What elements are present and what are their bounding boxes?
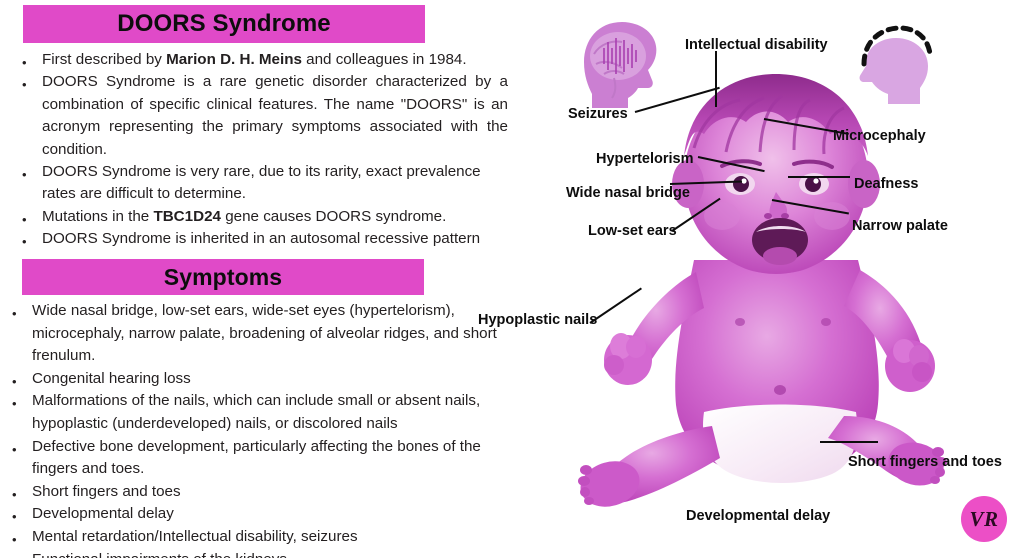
leader-line-deafness (788, 176, 850, 178)
list-item: Mutations in the TBC1D24 gene causes DOO… (20, 206, 508, 228)
infographic-slide: DOORS Syndrome First described by Marion… (0, 0, 1024, 558)
page-title: DOORS Syndrome (117, 10, 330, 38)
list-item: Short fingers and toes (8, 481, 508, 504)
brain-eeg-head-icon (578, 18, 670, 115)
left-text-column: DOORS Syndrome First described by Marion… (0, 0, 520, 558)
list-item: Congenital hearing loss (8, 368, 508, 391)
label-hypertelorism: Hypertelorism (596, 152, 694, 167)
label-microcephaly: Microcephaly (833, 129, 926, 144)
label-intellectual-disability: Intellectual disability (685, 38, 828, 53)
symptoms-title: Symptoms (164, 264, 282, 291)
label-narrow-palate: Narrow palate (852, 219, 948, 234)
label-low-set-ears: Low-set ears (588, 224, 677, 239)
diagram-column: Intellectual disability Seizures Microce… (520, 0, 1024, 558)
list-item: DOORS Syndrome is very rare, due to its … (20, 161, 508, 206)
leader-line-intellectual-disability (715, 51, 717, 107)
label-developmental-delay: Developmental delay (686, 509, 830, 524)
list-item: Mental retardation/Intellectual disabili… (8, 526, 508, 549)
list-item: Defective bone development, particularly… (8, 436, 508, 481)
microcephaly-head-icon (850, 20, 940, 121)
symptoms-bullet-list: Wide nasal bridge, low-set ears, wide-se… (8, 300, 508, 558)
leader-line-short-fingers-and-toes (820, 441, 878, 443)
symptoms-title-bar: Symptoms (22, 259, 424, 295)
list-item: DOORS Syndrome is a rare genetic disorde… (20, 71, 508, 161)
list-item: Wide nasal bridge, low-set ears, wide-se… (8, 300, 508, 368)
label-wide-nasal-bridge: Wide nasal bridge (566, 186, 690, 201)
vr-logo-text: VR (969, 507, 998, 532)
label-deafness: Deafness (854, 177, 918, 192)
list-item: DOORS Syndrome is inherited in an autoso… (20, 228, 508, 250)
label-short-fingers-and-toes: Short fingers and toes (848, 455, 1002, 470)
overview-bullet-list: First described by Marion D. H. Meins an… (20, 49, 508, 251)
list-item: Functional impairments of the kidneys (8, 549, 508, 558)
vr-logo: VR (961, 496, 1007, 542)
label-seizures: Seizures (568, 107, 628, 122)
list-item: Malformations of the nails, which can in… (8, 390, 508, 435)
label-hypoplastic-nails: Hypoplastic nails (478, 313, 597, 328)
list-item: First described by Marion D. H. Meins an… (20, 49, 508, 71)
overview-title-bar: DOORS Syndrome (23, 5, 425, 43)
list-item: Developmental delay (8, 503, 508, 526)
